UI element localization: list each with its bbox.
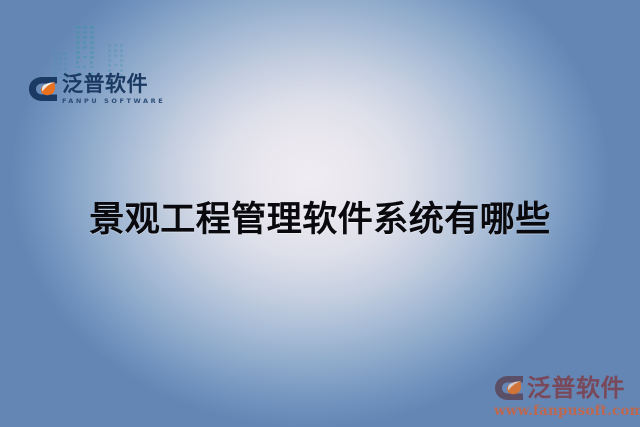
site-watermark-logo-row: 泛普软件 xyxy=(494,375,632,401)
brand-logo-english-name: FANPU SOFTWARE xyxy=(62,98,165,105)
fanpu-swoosh-logo-icon xyxy=(28,76,58,102)
brand-logo-wordmark: 泛普软件 FANPU SOFTWARE xyxy=(62,74,165,105)
site-watermark-chinese-name: 泛普软件 xyxy=(527,376,625,400)
fanpu-swoosh-logo-icon xyxy=(494,375,524,401)
promo-banner: 泛普软件 FANPU SOFTWARE 景观工程管理软件系统有哪些 泛普软件 w… xyxy=(0,0,640,427)
site-watermark: 泛普软件 www.fanpusoft.com xyxy=(494,375,632,419)
brand-logo: 泛普软件 FANPU SOFTWARE xyxy=(28,74,165,105)
brand-logo-chinese-name: 泛普软件 xyxy=(62,74,165,95)
page-title: 景观工程管理软件系统有哪些 xyxy=(0,198,640,242)
cityscape-buildings-icon xyxy=(52,18,144,80)
site-watermark-url: www.fanpusoft.com xyxy=(494,403,632,419)
